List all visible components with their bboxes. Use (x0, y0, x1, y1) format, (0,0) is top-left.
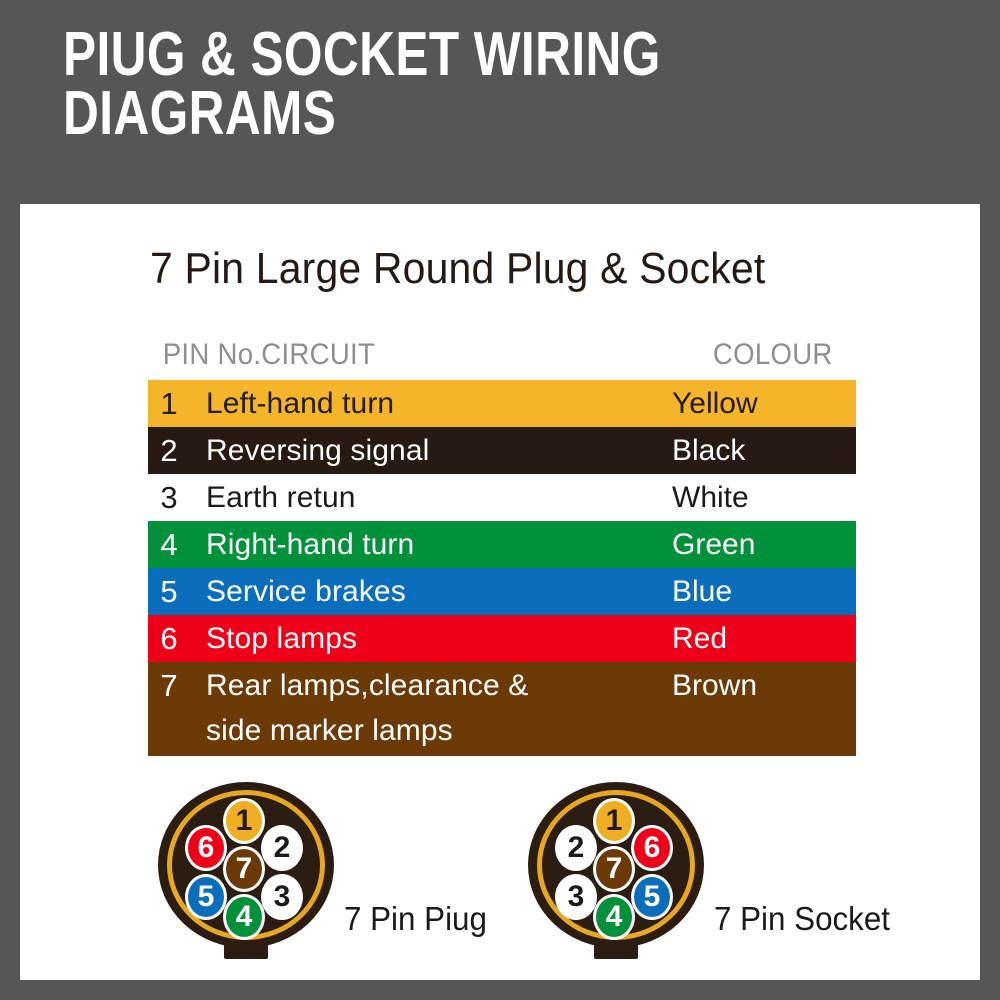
plug-diagram-group: 1234567 7 Pin Piug (158, 782, 334, 964)
plug-pin-7: 7 (223, 846, 265, 892)
cell-pin-number: 7 (148, 662, 190, 709)
table-row: 7Rear lamps,clearance & side marker lamp… (148, 662, 856, 756)
cell-colour: Yellow (666, 380, 856, 427)
cell-pin-number: 3 (148, 474, 190, 521)
socket-pin-7: 7 (593, 846, 635, 892)
page-root: PIUG & SOCKET WIRING DIAGRAMS 7 Pin Larg… (0, 0, 1000, 1000)
socket-pin-4: 4 (593, 894, 635, 940)
table-row: 3Earth retunWhite (148, 474, 856, 521)
socket-diagram-group: 1234567 7 Pin Socket (528, 782, 704, 964)
cell-pin-number: 1 (148, 380, 190, 427)
table-row: 1Left-hand turnYellow (148, 380, 856, 427)
connector-diagrams: 1234567 7 Pin Piug 1234567 7 Pin Socket (20, 782, 980, 982)
cell-pin-number: 6 (148, 615, 190, 662)
card-subtitle: 7 Pin Large Round Plug & Socket (150, 244, 765, 294)
table-row: 6Stop lampsRed (148, 615, 856, 662)
cell-circuit: Reversing signal (190, 427, 666, 474)
pin-circuit-table: PIN No.CIRCUIT COLOUR 1Left-hand turnYel… (148, 338, 856, 756)
page-title: PIUG & SOCKET WIRING DIAGRAMS (63, 26, 703, 144)
table-row: 2Reversing signalBlack (148, 427, 856, 474)
cell-colour: Blue (666, 568, 856, 615)
plug-connector: 1234567 (158, 782, 334, 964)
socket-pin-6: 6 (631, 825, 673, 871)
socket-pin-5: 5 (631, 874, 673, 920)
table-body: 1Left-hand turnYellow2Reversing signalBl… (148, 380, 856, 756)
socket-pin-3: 3 (555, 874, 597, 920)
plug-pin-3: 3 (261, 874, 303, 920)
cell-colour: Black (666, 427, 856, 474)
cell-circuit: Left-hand turn (190, 380, 666, 427)
cell-colour: Green (666, 521, 856, 568)
cell-circuit: Service brakes (190, 568, 666, 615)
socket-pin-2: 2 (555, 825, 597, 871)
socket-body: 1234567 (528, 782, 704, 948)
cell-circuit: Rear lamps,clearance & side marker lamps (190, 662, 666, 753)
cell-pin-number: 4 (148, 521, 190, 568)
cell-pin-number: 2 (148, 427, 190, 474)
content-card: 7 Pin Large Round Plug & Socket PIN No.C… (20, 204, 980, 980)
cell-circuit: Earth retun (190, 474, 666, 521)
cell-colour: Brown (666, 662, 856, 709)
plug-pin-1: 1 (223, 798, 265, 844)
cell-colour: White (666, 474, 856, 521)
socket-connector: 1234567 (528, 782, 704, 964)
plug-body: 1234567 (158, 782, 334, 948)
table-header-row: PIN No.CIRCUIT COLOUR (148, 338, 856, 380)
table-row: 5Service brakesBlue (148, 568, 856, 615)
column-header-pin-circuit: PIN No.CIRCUIT (163, 338, 375, 372)
plug-pin-4: 4 (223, 894, 265, 940)
table-row: 4Right-hand turnGreen (148, 521, 856, 568)
socket-caption: 7 Pin Socket (714, 900, 890, 938)
title-banner: PIUG & SOCKET WIRING DIAGRAMS (63, 26, 863, 144)
cell-circuit: Stop lamps (190, 615, 666, 662)
socket-pin-1: 1 (593, 798, 635, 844)
plug-pin-6: 6 (185, 825, 227, 871)
plug-caption: 7 Pin Piug (344, 900, 487, 938)
column-header-colour: COLOUR (713, 338, 833, 372)
cell-pin-number: 5 (148, 568, 190, 615)
cell-circuit: Right-hand turn (190, 521, 666, 568)
plug-pin-5: 5 (185, 874, 227, 920)
cell-colour: Red (666, 615, 856, 662)
plug-pin-2: 2 (261, 825, 303, 871)
